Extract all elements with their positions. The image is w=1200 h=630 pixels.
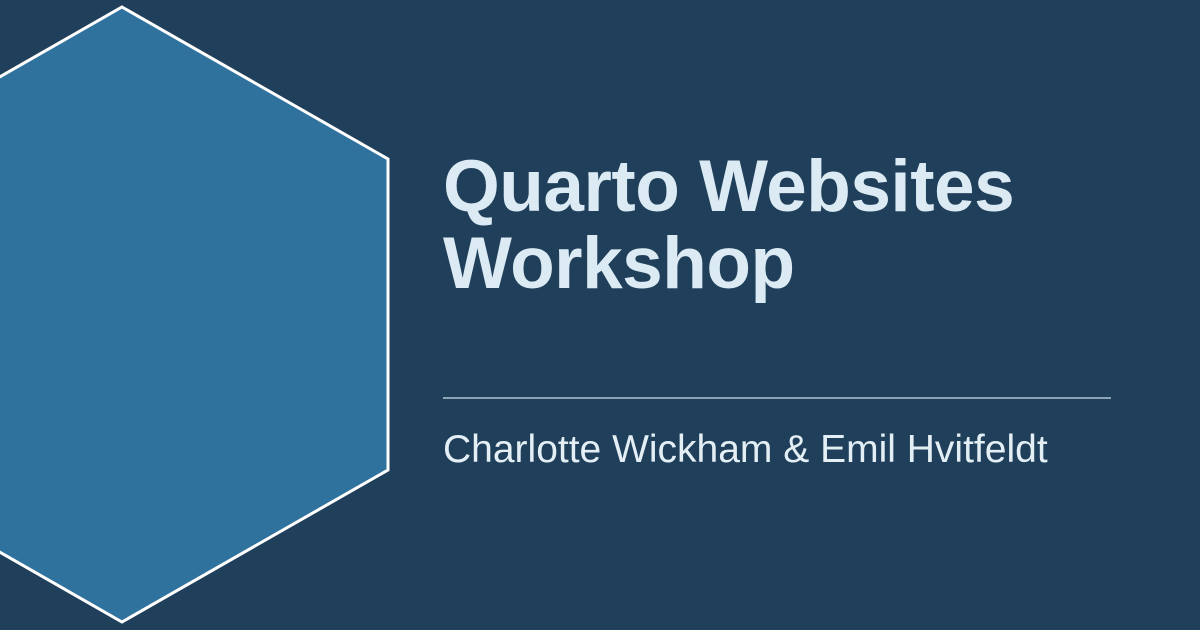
title-slide: Quarto Websites Workshop Charlotte Wickh… — [0, 0, 1200, 630]
hexagon-icon — [0, 7, 388, 622]
title-divider — [443, 397, 1111, 399]
title-block: Quarto Websites Workshop — [443, 148, 1113, 303]
hexagon-decoration — [0, 0, 1200, 630]
slide-subtitle: Charlotte Wickham & Emil Hvitfeldt — [443, 428, 1143, 473]
page-title-line-1: Quarto Websites — [443, 146, 1014, 227]
page-title-line-2: Workshop — [443, 223, 795, 304]
page-title: Quarto Websites Workshop — [443, 148, 1113, 303]
